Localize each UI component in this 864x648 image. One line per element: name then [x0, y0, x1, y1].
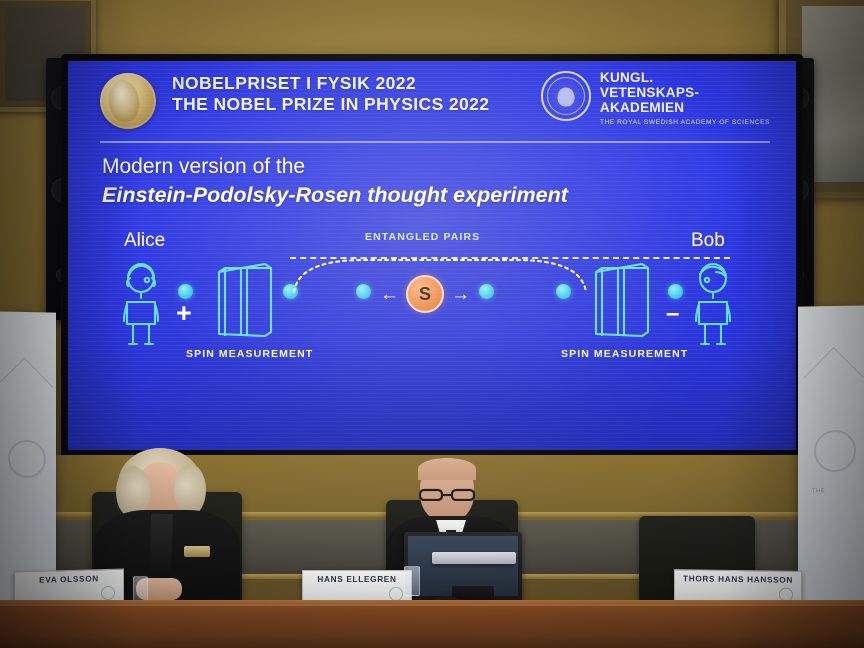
press-conference-scene: NOBELPRISET I FYSIK 2022 THE NOBEL PRIZE… — [0, 0, 864, 648]
room-shading — [0, 0, 864, 648]
